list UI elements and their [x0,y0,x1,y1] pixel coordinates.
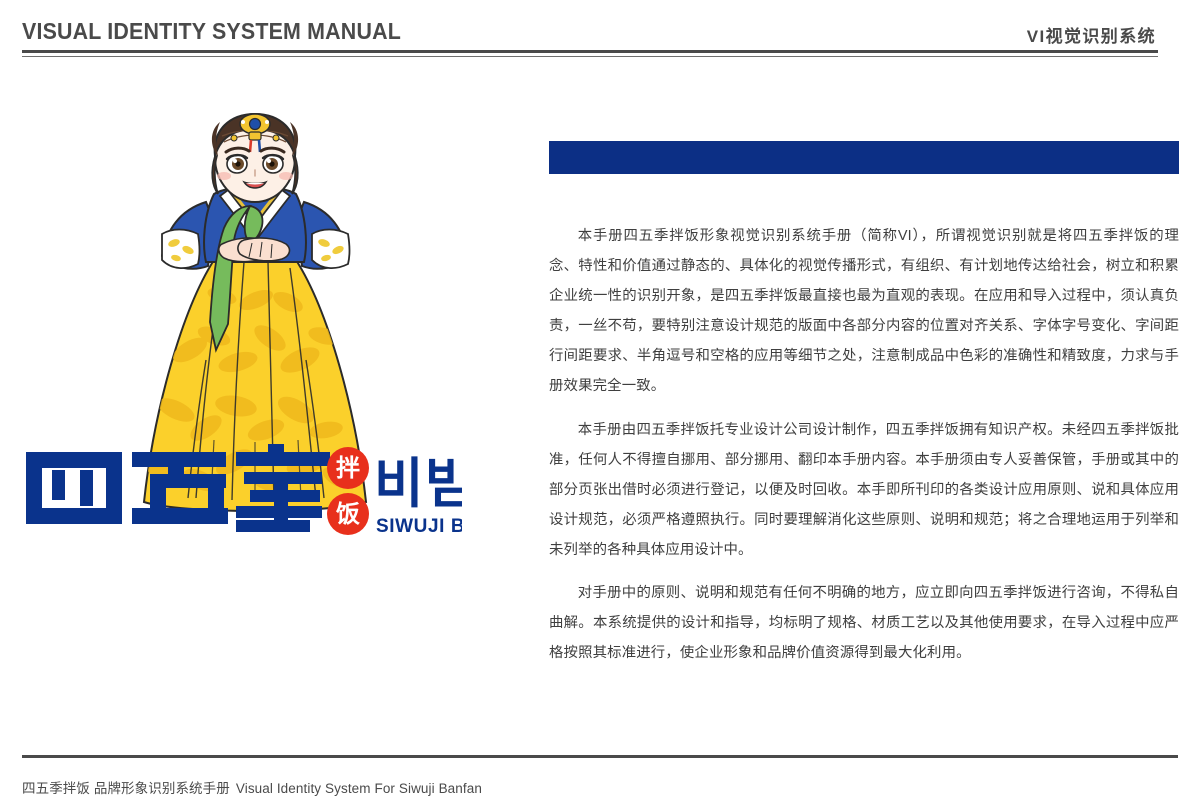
page-title: VISUAL IDENTITY SYSTEM MANUAL [22,18,401,45]
logo-badge-ban-label: 拌 [336,454,360,482]
page-footer: 四五季拌饭 品牌形象识别系统手册Visual Identity System F… [0,755,1200,809]
logo-char-ji [236,444,330,532]
body-copy: 本手册四五季拌饭形象视觉识别系统手册（简称VI），所谓视觉识别就是将四五季拌饭的… [549,222,1179,669]
paragraph-2: 本手册由四五季拌饭托专业设计公司设计制作，四五季拌饭拥有知识产权。未经四五季拌饭… [549,416,1179,566]
section-heading-bar [549,141,1179,174]
header-divider-thin [22,56,1158,57]
brand-logo: 拌 饭 비빔밥 SIWUJI BANFAN [22,440,462,550]
page-header: VISUAL IDENTITY SYSTEM MANUAL VI视觉识别系统 [0,0,1200,66]
paragraph-3: 对手册中的原则、说明和规范有任何不明确的地方，应立即向四五季拌饭进行咨询，不得私… [549,579,1179,669]
content-text-panel: 本手册四五季拌饭形象视觉识别系统手册（简称VI），所谓视觉识别就是将四五季拌饭的… [549,141,1179,669]
logo-char-wu [132,452,228,524]
footer-divider [22,755,1178,758]
logo-korean-text: 비빔밥 [374,452,462,515]
footer-caption-en: Visual Identity System For Siwuji Banfan [236,781,482,796]
logo-romanized-text: SIWUJI BANFAN [376,516,462,537]
footer-caption: 四五季拌饭 品牌形象识别系统手册Visual Identity System F… [22,777,482,797]
paragraph-1: 本手册四五季拌饭形象视觉识别系统手册（简称VI），所谓视觉识别就是将四五季拌饭的… [549,222,1179,402]
footer-caption-cn: 四五季拌饭 品牌形象识别系统手册 [22,781,230,796]
logo-char-si [26,452,122,524]
mascot-panel [40,100,520,660]
header-subtitle: VI视觉识别系统 [1027,22,1156,47]
header-divider-thick [22,50,1158,53]
logo-badge-fan-label: 饭 [336,500,360,528]
